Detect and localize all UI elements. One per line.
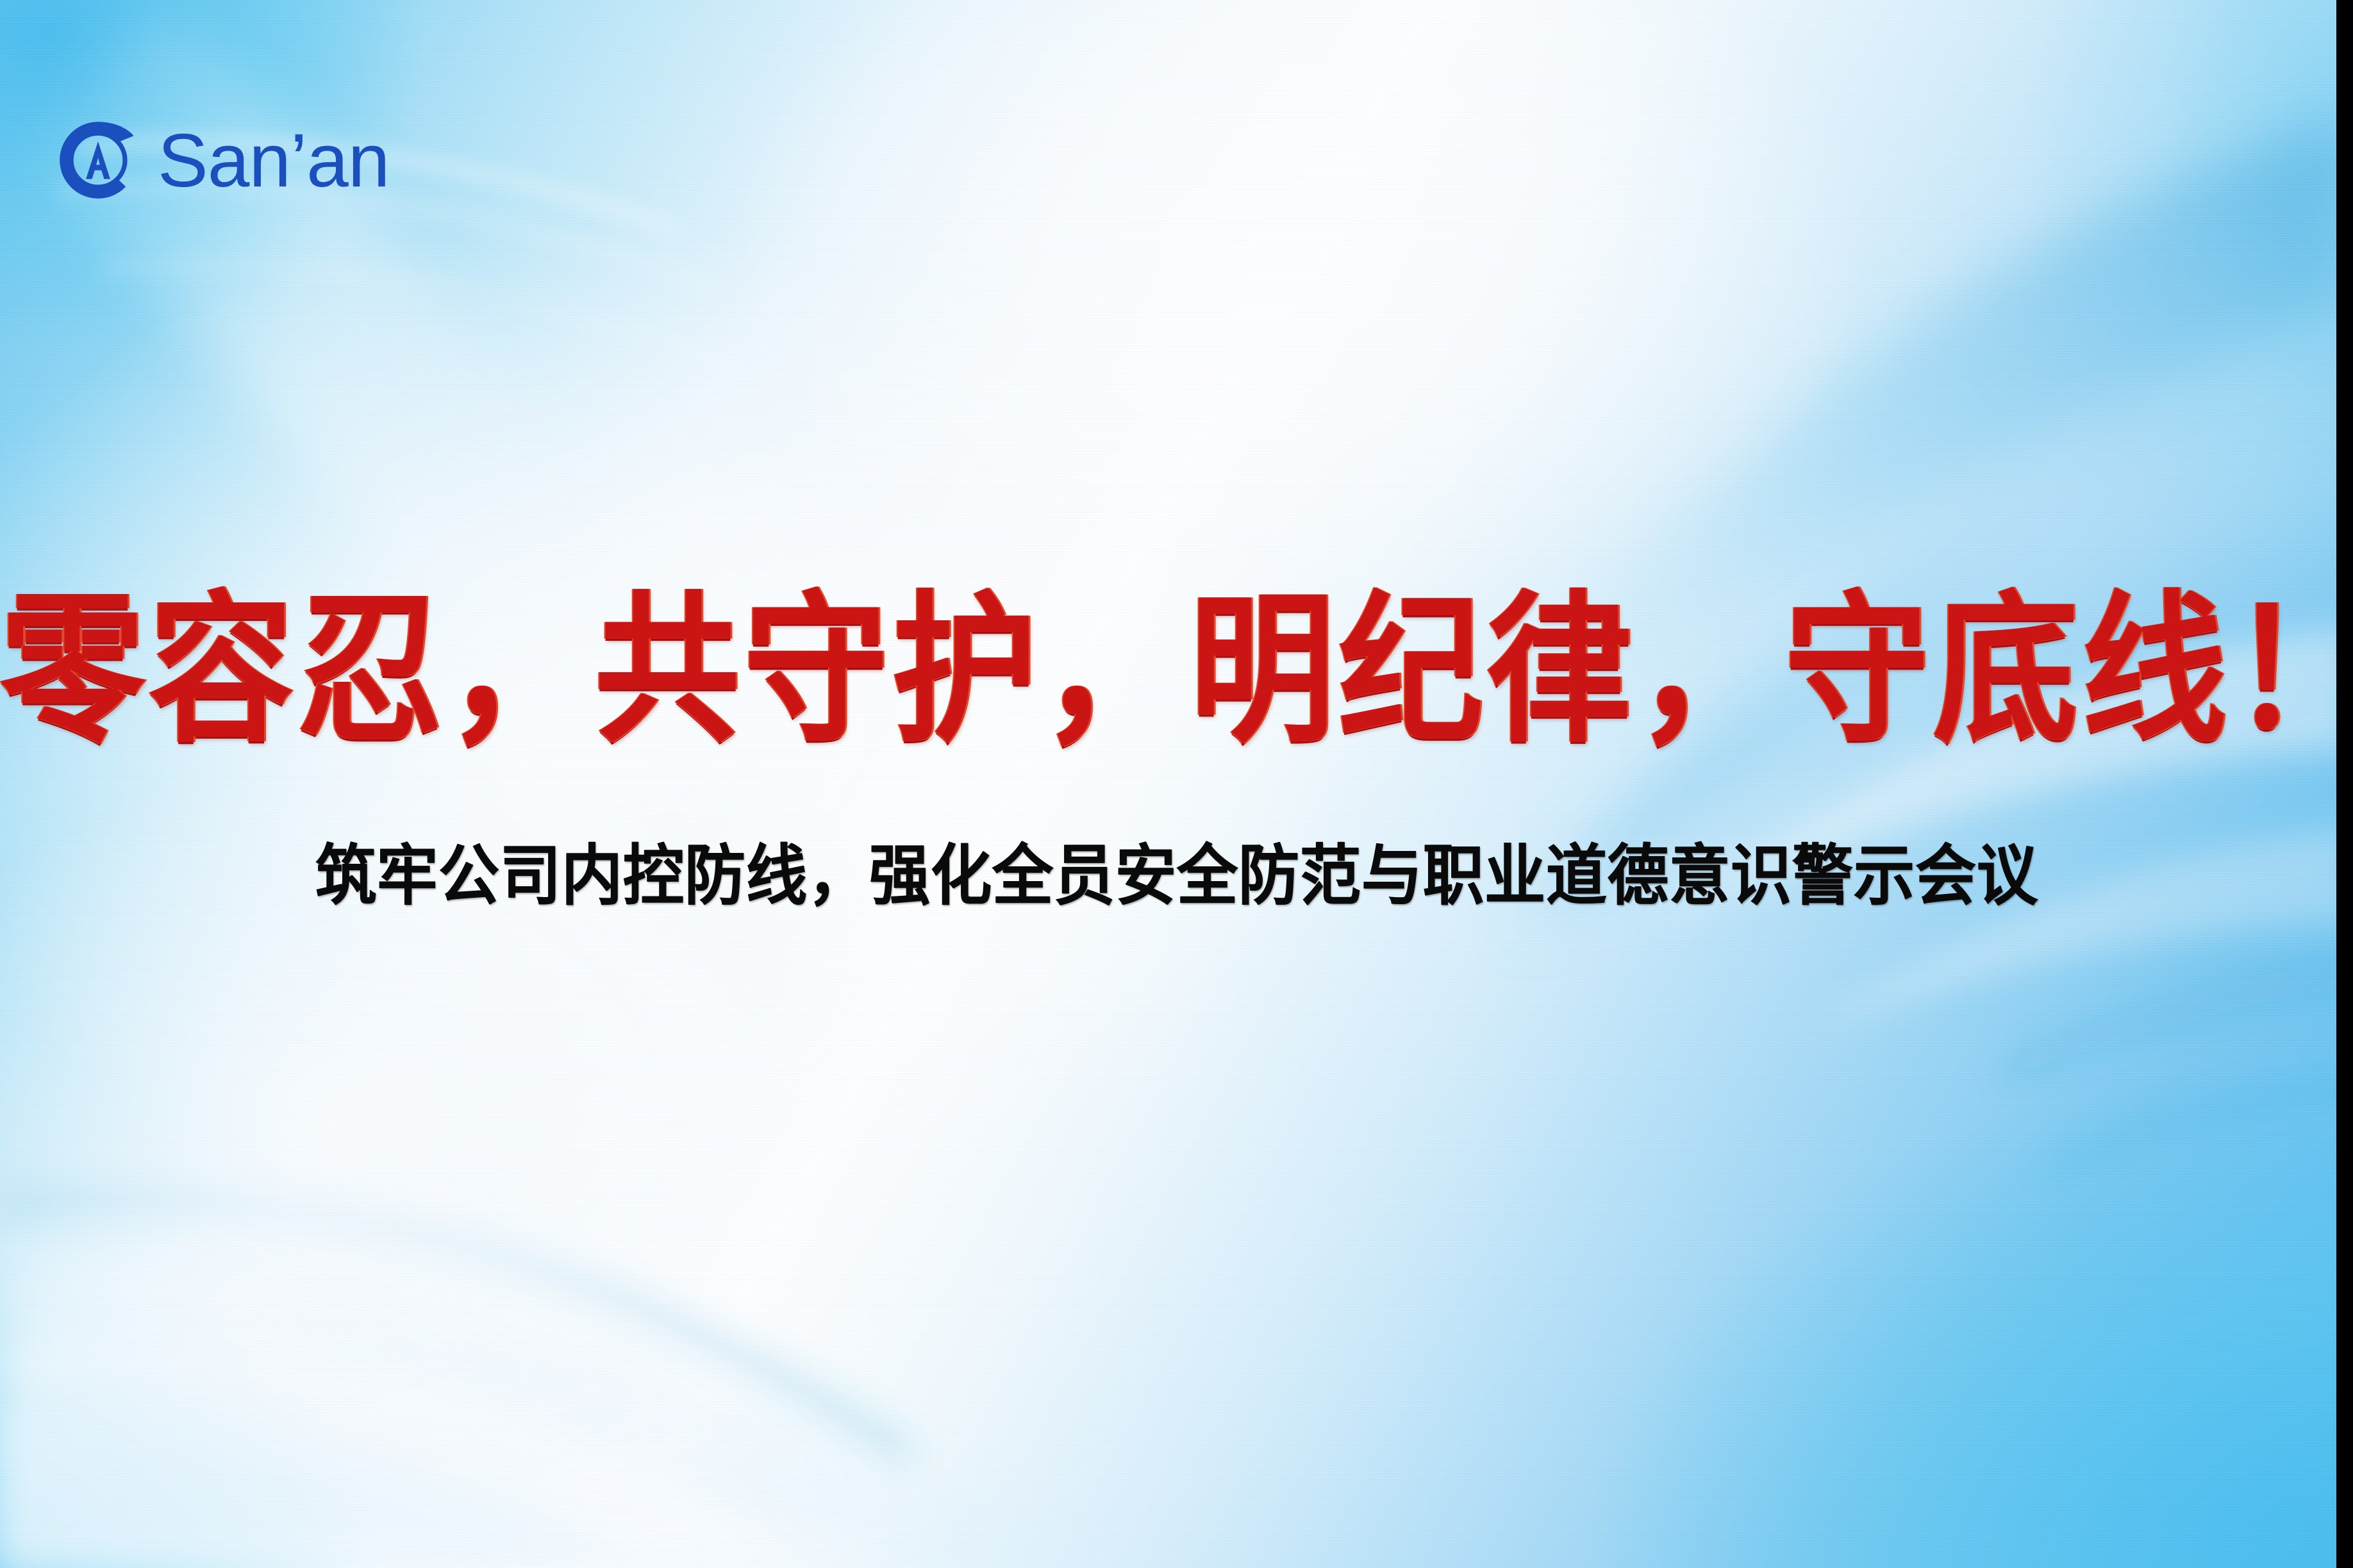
banner-subtitle: 筑牢公司内控防线，强化全员安全防范与职业道德意识警示会议 xyxy=(0,838,2353,915)
banner-headline: 零容忍，共守护，明纪律，守底线！ xyxy=(0,580,2353,761)
banner-slide: San’an 零容忍，共守护，明纪律，守底线！ 筑牢公司内控防线，强化全员安全防… xyxy=(0,0,2353,1568)
background-ribbon-waves xyxy=(0,0,2353,1568)
right-edge-band xyxy=(2336,0,2353,1568)
sanan-circle-a-logo-icon xyxy=(58,120,138,201)
brand-logo-lockup: San’an xyxy=(58,120,389,201)
brand-wordmark: San’an xyxy=(158,123,389,199)
